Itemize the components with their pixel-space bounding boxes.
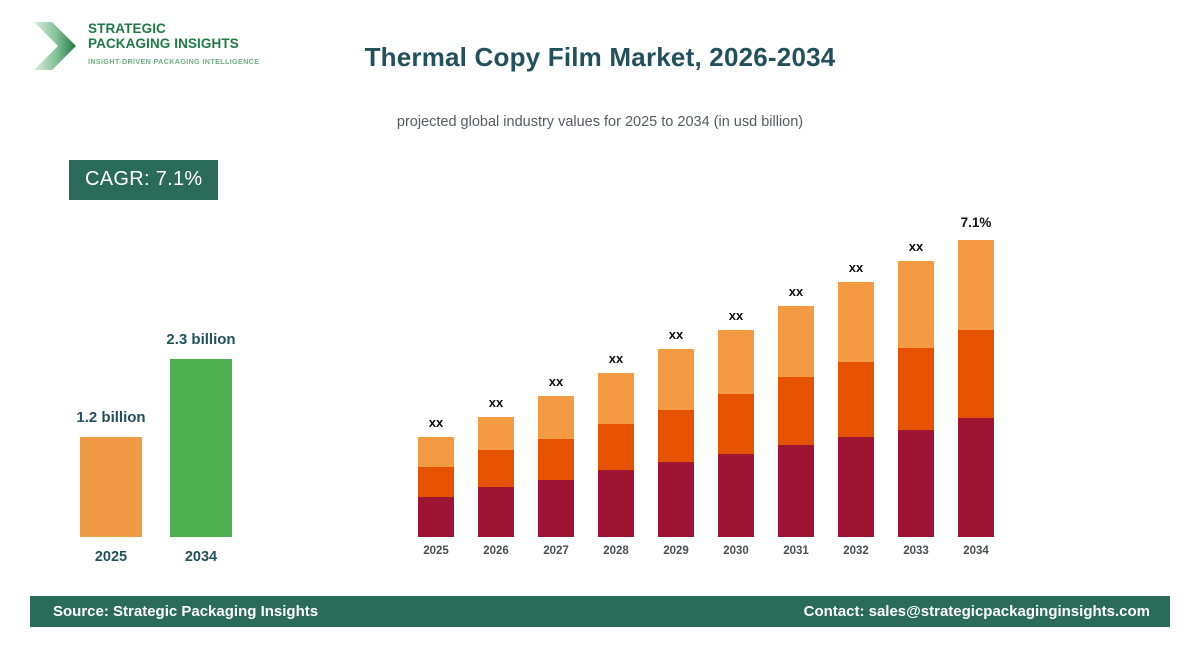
stacked-bar-2033: xx 2033 bbox=[898, 261, 934, 537]
stacked-bar-top-label: xx bbox=[456, 395, 536, 410]
bar-value-label: 2.3 billion bbox=[121, 331, 281, 348]
stacked-bar-top-label: xx bbox=[696, 308, 776, 323]
stacked-bar-2031: xx 2031 bbox=[778, 306, 814, 537]
chevron-right-icon bbox=[32, 20, 78, 72]
cagr-badge: CAGR: 7.1% bbox=[69, 160, 218, 200]
stack-segment-1 bbox=[658, 462, 694, 537]
stack-segment-2 bbox=[958, 330, 994, 418]
stacked-bar-2034: 7.1% 2034 bbox=[958, 240, 994, 537]
stacked-bar-top-label: xx bbox=[636, 327, 716, 342]
stack-segment-3 bbox=[778, 306, 814, 377]
stack-segment-3 bbox=[418, 437, 454, 467]
segment-stacked-forecast-chart: xx 2025 xx 2026 xx 2027 xx 2028 bbox=[400, 200, 1020, 560]
page-title: Thermal Copy Film Market, 2026-2034 bbox=[180, 42, 1020, 73]
stacked-bar-top-label: xx bbox=[576, 351, 656, 366]
stacked-bar-top-label: xx bbox=[756, 284, 836, 299]
stack-segment-1 bbox=[958, 418, 994, 537]
stack-segment-3 bbox=[718, 330, 754, 394]
stacked-bar-2026: xx 2026 bbox=[478, 417, 514, 537]
stack-segment-1 bbox=[718, 454, 754, 537]
stack-segment-2 bbox=[898, 348, 934, 430]
bar-category-label: 2034 bbox=[121, 549, 281, 565]
stack-segment-3 bbox=[598, 373, 634, 424]
stacked-bar-2025: xx 2025 bbox=[418, 437, 454, 537]
stacked-bar-2029: xx 2029 bbox=[658, 349, 694, 537]
stacked-bar-top-label: xx bbox=[816, 260, 896, 275]
bar-2034 bbox=[170, 359, 232, 537]
stacked-bar-category-label: 2034 bbox=[936, 545, 1016, 557]
infographic-canvas: STRATEGIC PACKAGING INSIGHTS INSIGHT-DRI… bbox=[0, 0, 1200, 650]
stack-segment-3 bbox=[958, 240, 994, 330]
stacked-bar-2027: xx 2027 bbox=[538, 396, 574, 537]
stack-segment-3 bbox=[838, 282, 874, 362]
stack-segment-2 bbox=[598, 424, 634, 470]
cagr-annotation-label: 7.1% bbox=[936, 215, 1016, 230]
stack-segment-2 bbox=[658, 410, 694, 462]
stack-segment-1 bbox=[538, 480, 574, 537]
stack-segment-1 bbox=[478, 487, 514, 537]
stack-segment-2 bbox=[418, 467, 454, 497]
stack-segment-3 bbox=[478, 417, 514, 450]
stack-segment-1 bbox=[778, 445, 814, 537]
page-subtitle: projected global industry values for 202… bbox=[180, 114, 1020, 130]
bar-group-2034: 2.3 billion 2034 bbox=[170, 359, 232, 537]
bar-2025 bbox=[80, 437, 142, 537]
footer-contact-text: Contact: sales@strategicpackaginginsight… bbox=[804, 596, 1150, 627]
stacked-bar-top-label: xx bbox=[396, 415, 476, 430]
stack-segment-1 bbox=[898, 430, 934, 537]
stack-segment-2 bbox=[718, 394, 754, 454]
stack-segment-3 bbox=[898, 261, 934, 348]
stacked-bar-top-label: xx bbox=[876, 239, 956, 254]
stack-segment-1 bbox=[418, 497, 454, 537]
stacked-bar-top-label: xx bbox=[516, 374, 596, 389]
stack-segment-2 bbox=[478, 450, 514, 487]
endpoint-comparison-chart: 1.2 billion 2025 2.3 billion 2034 bbox=[50, 300, 310, 570]
stack-segment-2 bbox=[538, 439, 574, 480]
stack-segment-3 bbox=[658, 349, 694, 410]
stacked-bar-2032: xx 2032 bbox=[838, 282, 874, 537]
stack-segment-2 bbox=[778, 377, 814, 445]
stack-segment-2 bbox=[838, 362, 874, 437]
stack-segment-1 bbox=[838, 437, 874, 537]
stacked-bar-2028: xx 2028 bbox=[598, 373, 634, 537]
footer-source-text: Source: Strategic Packaging Insights bbox=[53, 596, 318, 627]
stack-segment-1 bbox=[598, 470, 634, 537]
stack-segment-3 bbox=[538, 396, 574, 439]
bar-group-2025: 1.2 billion 2025 bbox=[80, 437, 142, 537]
stacked-bar-2030: xx 2030 bbox=[718, 330, 754, 537]
brand-name-line-1: STRATEGIC bbox=[88, 22, 259, 37]
bar-value-label: 1.2 billion bbox=[31, 409, 191, 426]
footer-bar: Source: Strategic Packaging Insights Con… bbox=[30, 596, 1170, 627]
